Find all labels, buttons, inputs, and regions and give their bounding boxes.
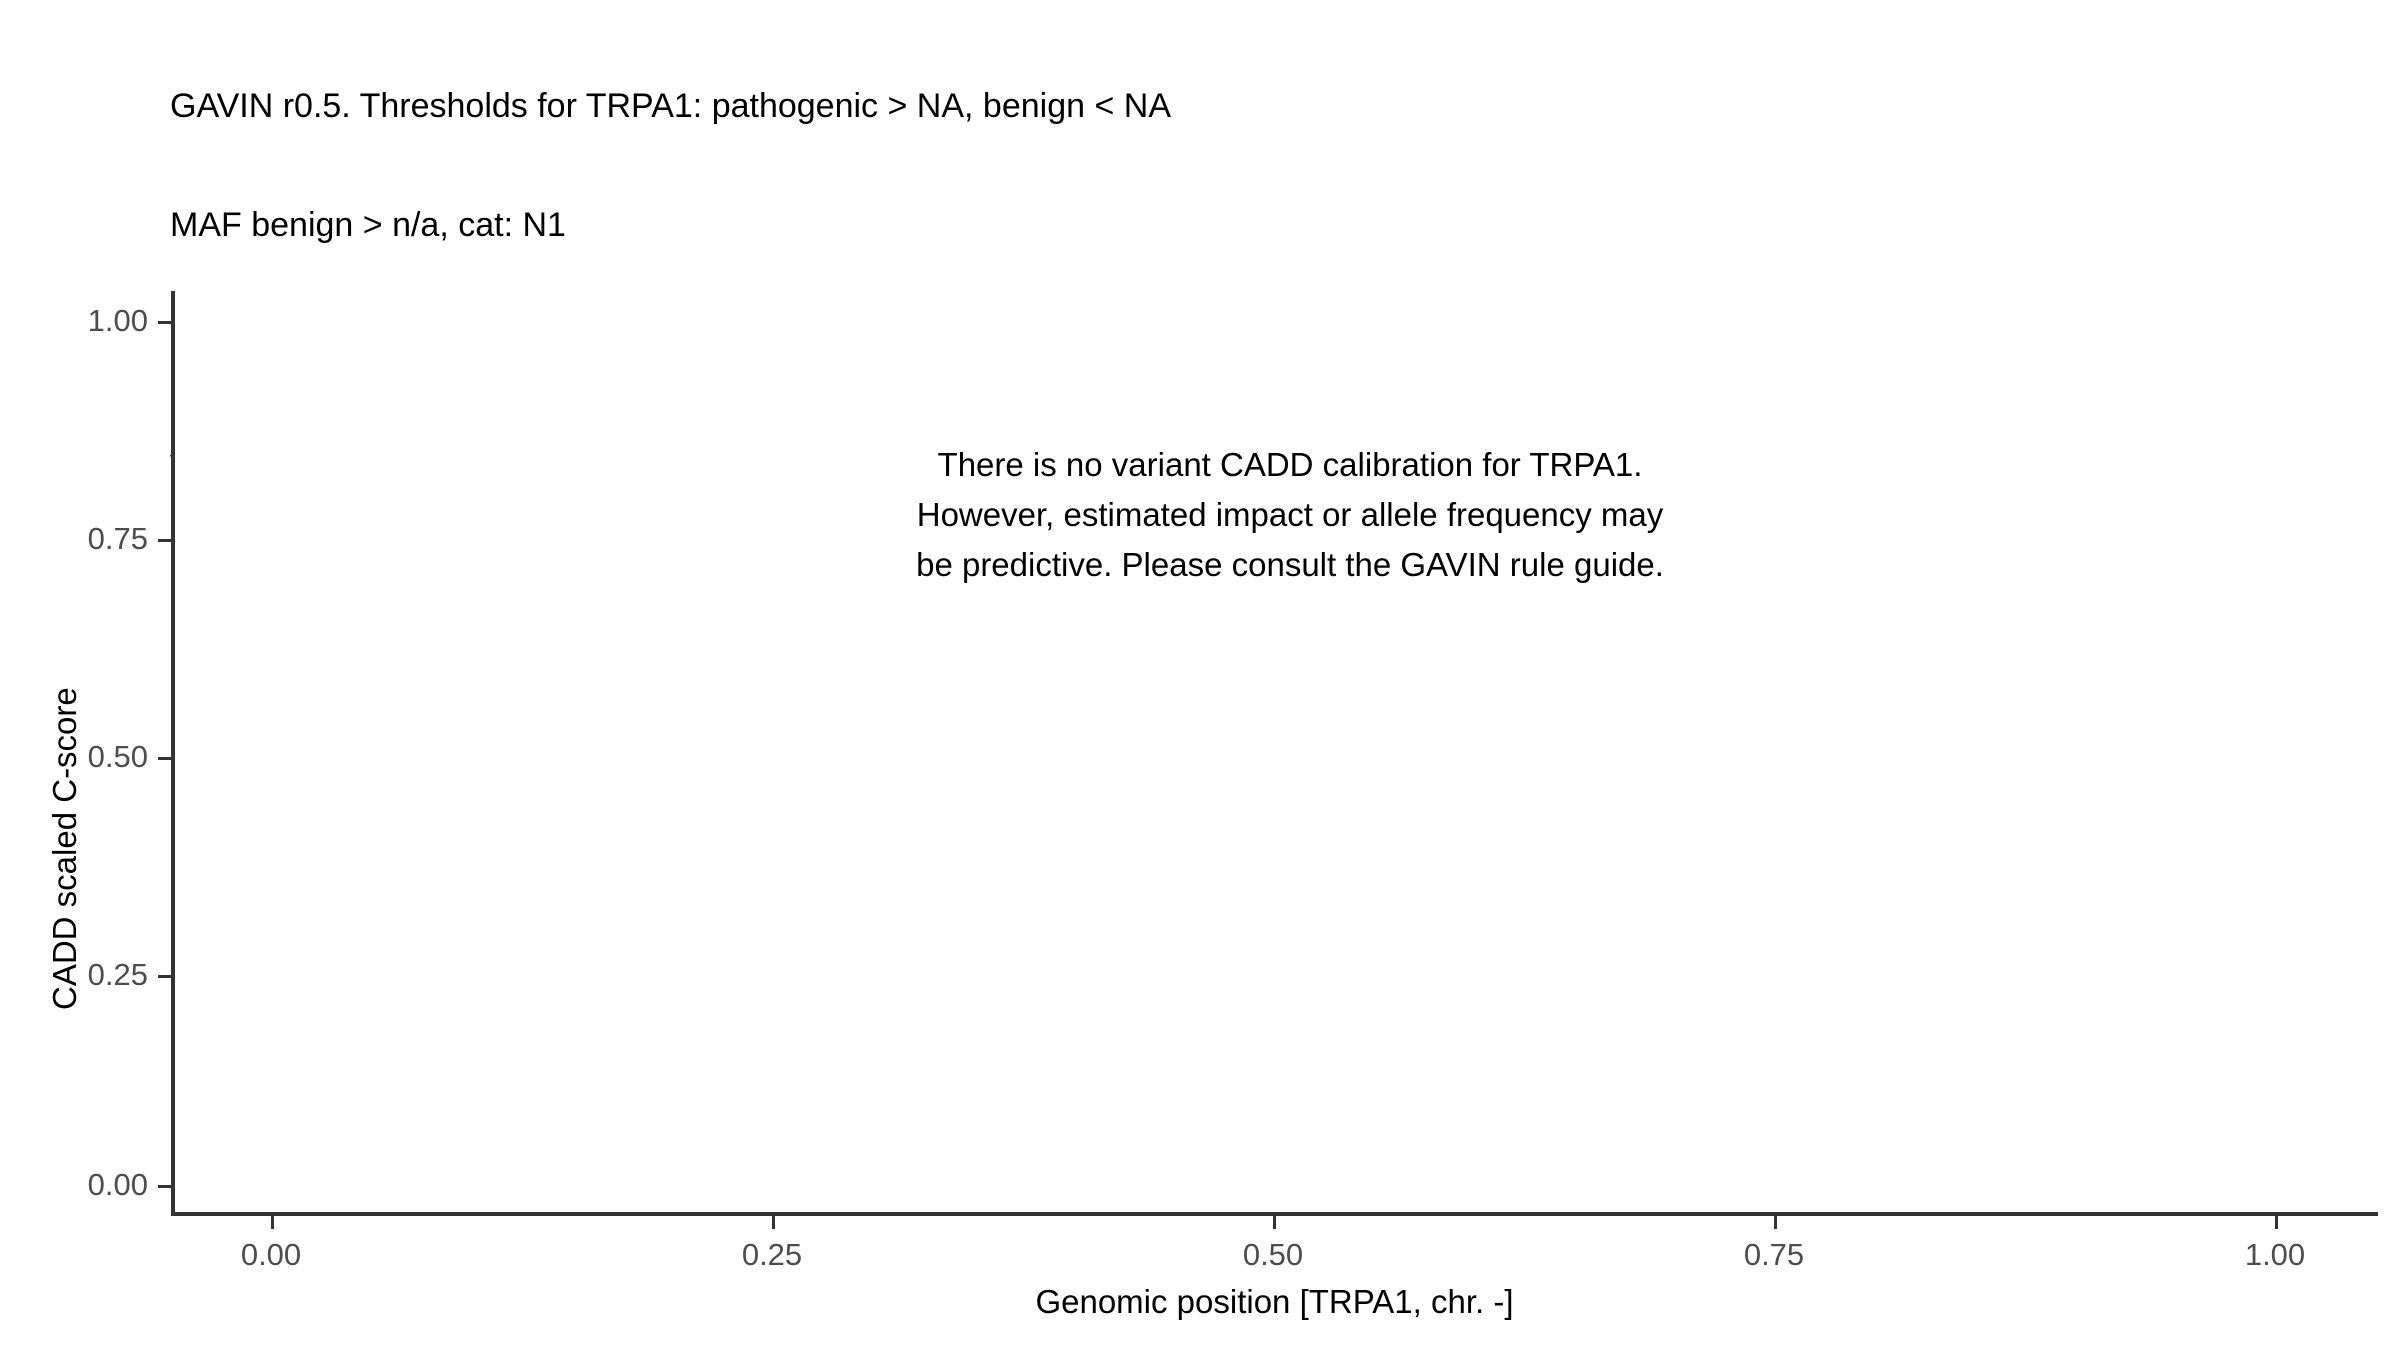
x-axis-title: Genomic position [TRPA1, chr. -] [171,1283,2378,1321]
x-axis-tick-5 [2275,1216,2278,1229]
x-axis-ticklabel-4: 0.75 [1674,1237,1874,1273]
chart-canvas: GAVIN r0.5. Thresholds for TRPA1: pathog… [0,0,2400,1350]
x-axis-ticklabel-1: 0.00 [171,1237,371,1273]
y-axis-tick-1 [158,321,171,324]
x-axis-tick-4 [1774,1216,1777,1229]
x-axis-ticklabel-2: 0.25 [672,1237,872,1273]
plot-annotation-line-2: However, estimated impact or allele freq… [690,490,1890,540]
y-axis-ticklabel-2: 0.75 [0,521,148,557]
y-axis-title: CADD scaled C-score [46,687,84,1010]
plot-title-line-2: MAF benign > n/a, cat: N1 [170,206,2170,246]
y-axis-tick-4 [158,975,171,978]
y-axis-ticklabel-5: 0.00 [0,1167,148,1203]
x-axis-tick-2 [772,1216,775,1229]
plot-annotation-line-1: There is no variant CADD calibration for… [690,440,1890,490]
y-axis-line [171,291,175,1216]
y-axis-tick-5 [158,1185,171,1188]
x-axis-tick-1 [271,1216,274,1229]
plot-panel [171,291,2378,1213]
plot-title-line-1: GAVIN r0.5. Thresholds for TRPA1: pathog… [170,87,2170,127]
x-axis-tick-3 [1273,1216,1276,1229]
y-axis-ticklabel-1: 1.00 [0,303,148,339]
y-axis-tick-2 [158,539,171,542]
x-axis-ticklabel-5: 1.00 [2175,1237,2375,1273]
y-axis-tick-3 [158,757,171,760]
x-axis-ticklabel-3: 0.50 [1173,1237,1373,1273]
plot-annotation-line-3: be predictive. Please consult the GAVIN … [690,540,1890,590]
plot-annotation: There is no variant CADD calibration for… [690,440,1890,590]
